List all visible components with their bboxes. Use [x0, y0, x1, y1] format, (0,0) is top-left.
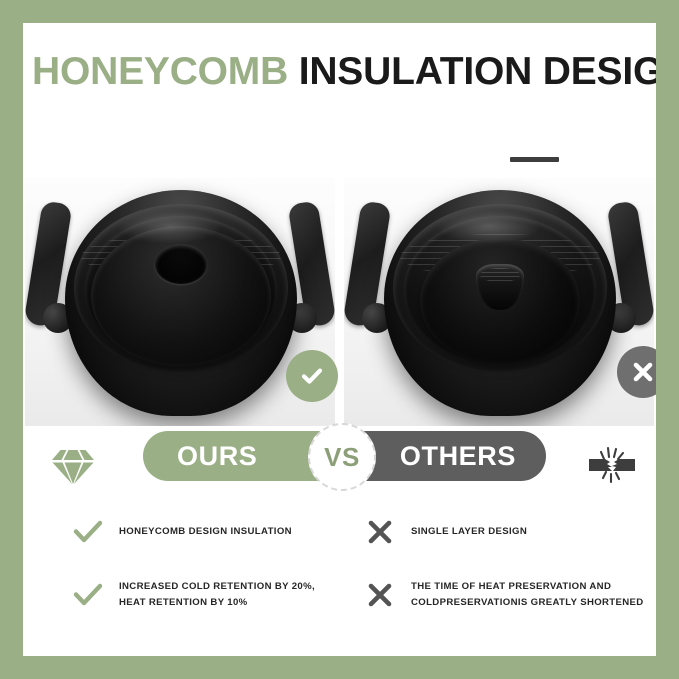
- feature-text: SINGLE LAYER DESIGN: [411, 524, 527, 540]
- horizontal-dash-icon: [510, 157, 559, 162]
- product-comparison-panels: [23, 178, 656, 433]
- title-highlight: HONEYCOMB: [32, 50, 288, 93]
- x-icon: [363, 515, 397, 549]
- poster-frame: HONEYCOMB INSULATION DESIGN: [0, 0, 679, 679]
- pot-lid-others: [420, 238, 580, 364]
- page-title: HONEYCOMB INSULATION DESIGN: [32, 49, 652, 95]
- feature-text: THE TIME OF HEAT PRESERVATION AND COLDPR…: [411, 579, 644, 611]
- vs-label: VS: [324, 442, 360, 473]
- pot-illustration-others: [344, 178, 654, 426]
- feature-text: HONEYCOMB DESIGN INSULATION: [119, 524, 292, 540]
- vs-divider-badge: VS: [308, 423, 376, 491]
- pot-body: [65, 190, 297, 416]
- pill-others-label: OTHERS: [400, 441, 516, 472]
- list-item: SINGLE LAYER DESIGN: [341, 515, 527, 549]
- poster-canvas: HONEYCOMB INSULATION DESIGN: [23, 23, 656, 656]
- broken-burst-icon: [581, 443, 641, 487]
- lid-vent-hole: [155, 244, 207, 284]
- feature-text: INCREASED COLD RETENTION BY 20%, HEAT RE…: [119, 579, 315, 611]
- list-item: INCREASED COLD RETENTION BY 20%, HEAT RE…: [31, 578, 315, 612]
- vs-bar: OURS OTHERS VS: [23, 423, 656, 495]
- pot-lid-ours: [91, 226, 271, 366]
- check-icon: [71, 515, 105, 549]
- lid-center-post: [476, 264, 524, 310]
- list-item: THE TIME OF HEAT PRESERVATION AND COLDPR…: [341, 578, 644, 612]
- title-rest: INSULATION DESIGN: [299, 50, 656, 93]
- pill-ours-label: OURS: [177, 441, 257, 472]
- list-item: HONEYCOMB DESIGN INSULATION: [31, 515, 292, 549]
- pot-body: [384, 190, 616, 416]
- product-image-others: [344, 178, 654, 426]
- diamond-gem-icon: [50, 447, 96, 487]
- check-icon: [71, 578, 105, 612]
- check-circle-icon: [286, 350, 338, 402]
- x-icon: [363, 578, 397, 612]
